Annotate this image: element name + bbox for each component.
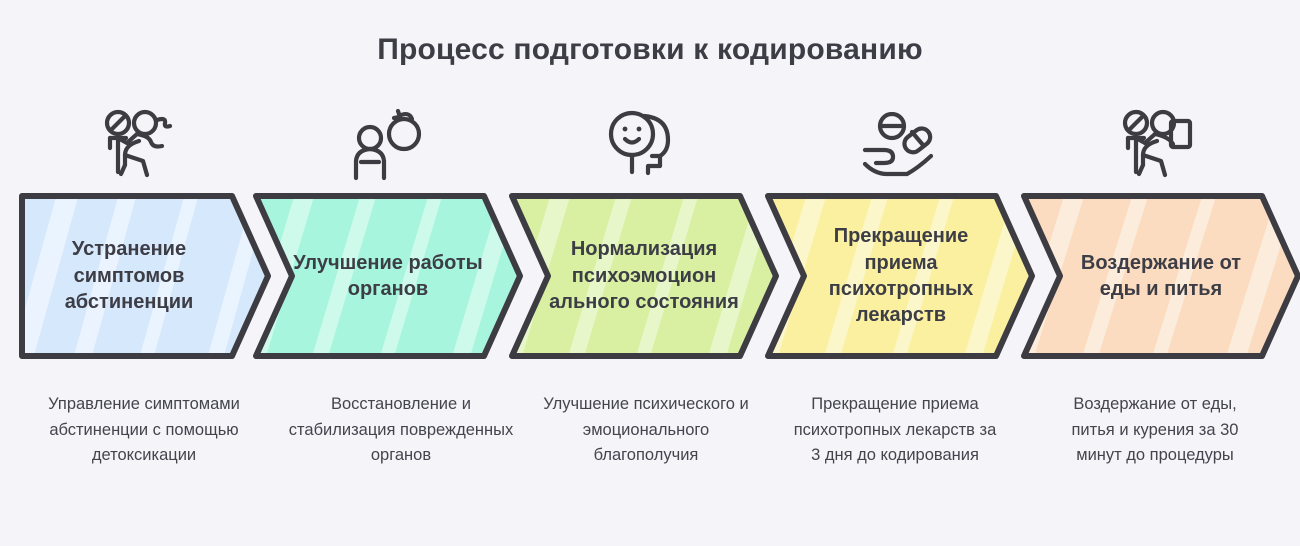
happy-head-mind-icon [604, 108, 682, 182]
step-4[interactable]: Прекращение приема психотропных лекарств [764, 105, 1034, 375]
process-infographic: Процесс подготовки к кодированию [0, 0, 1300, 546]
step-5-icon-wrap [1020, 105, 1300, 185]
step-5[interactable]: Воздержание от еды и питья [1020, 105, 1300, 375]
step-2-caption: Восстановление и стабилизация поврежденн… [288, 392, 514, 469]
step-4-chevron [764, 190, 1034, 362]
step-5-caption: Воздержание от еды, питья и курения за 3… [1058, 392, 1252, 469]
step-2[interactable]: Улучшение работы органов [252, 105, 522, 375]
no-eating-seated-person-icon [1119, 107, 1201, 183]
hand-holding-pills-icon [859, 112, 939, 178]
steps-row: Устранение симптомов абстиненции [0, 105, 1300, 375]
step-3-chevron [508, 190, 778, 362]
step-3-icon-wrap [508, 105, 778, 185]
step-2-chevron [252, 190, 522, 362]
step-3-caption: Улучшение психического и эмоционального … [536, 392, 756, 469]
person-recovery-arrow-icon [349, 108, 425, 182]
captions-row: Управление симптомами абстиненции с помо… [0, 392, 1300, 542]
page-title: Процесс подготовки к кодированию [0, 33, 1300, 67]
step-3[interactable]: Нормализация психоэмоцион ального состоя… [508, 105, 778, 375]
no-smoking-seated-person-icon [101, 107, 187, 183]
step-1-chevron [18, 190, 270, 362]
step-4-icon-wrap [764, 105, 1034, 185]
step-2-icon-wrap [252, 105, 522, 185]
step-1[interactable]: Устранение симптомов абстиненции [18, 105, 270, 375]
step-1-caption: Управление симптомами абстиненции с помо… [40, 392, 248, 469]
step-5-chevron [1020, 190, 1300, 362]
step-1-icon-wrap [18, 105, 270, 185]
step-4-caption: Прекращение приема психотропных лекарств… [790, 392, 1000, 469]
